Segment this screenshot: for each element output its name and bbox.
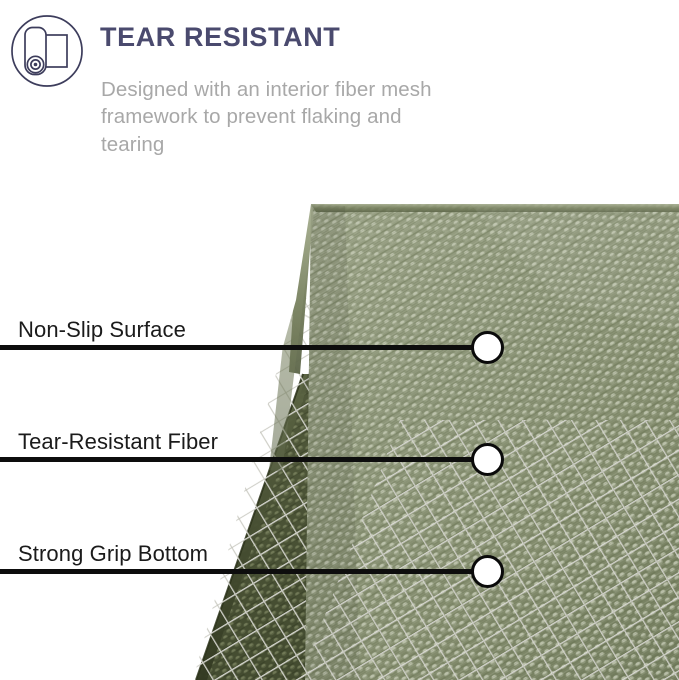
callout-strong-grip-bottom: Strong Grip Bottom bbox=[0, 524, 679, 574]
callout-label-2: Tear-Resistant Fiber bbox=[18, 431, 218, 453]
callout-tear-resistant-fiber: Tear-Resistant Fiber bbox=[0, 412, 679, 462]
infographic-page: TEAR RESISTANT Designed with an interior… bbox=[0, 0, 679, 680]
callout-label-3: Strong Grip Bottom bbox=[18, 543, 208, 565]
page-title: TEAR RESISTANT bbox=[100, 24, 340, 51]
callout-leader-line-3 bbox=[0, 569, 480, 574]
tarp-roll-icon bbox=[10, 14, 84, 88]
callout-dot-1 bbox=[471, 331, 504, 364]
callout-dot-3 bbox=[471, 555, 504, 588]
callout-dot-2 bbox=[471, 443, 504, 476]
callout-leader-line-1 bbox=[0, 345, 480, 350]
header: TEAR RESISTANT Designed with an interior… bbox=[0, 0, 679, 185]
callout-label-1: Non-Slip Surface bbox=[18, 319, 186, 341]
callout-leader-line-2 bbox=[0, 457, 480, 462]
page-subtitle: Designed with an interior fiber mesh fra… bbox=[101, 76, 461, 158]
callout-non-slip-surface: Non-Slip Surface bbox=[0, 300, 679, 350]
